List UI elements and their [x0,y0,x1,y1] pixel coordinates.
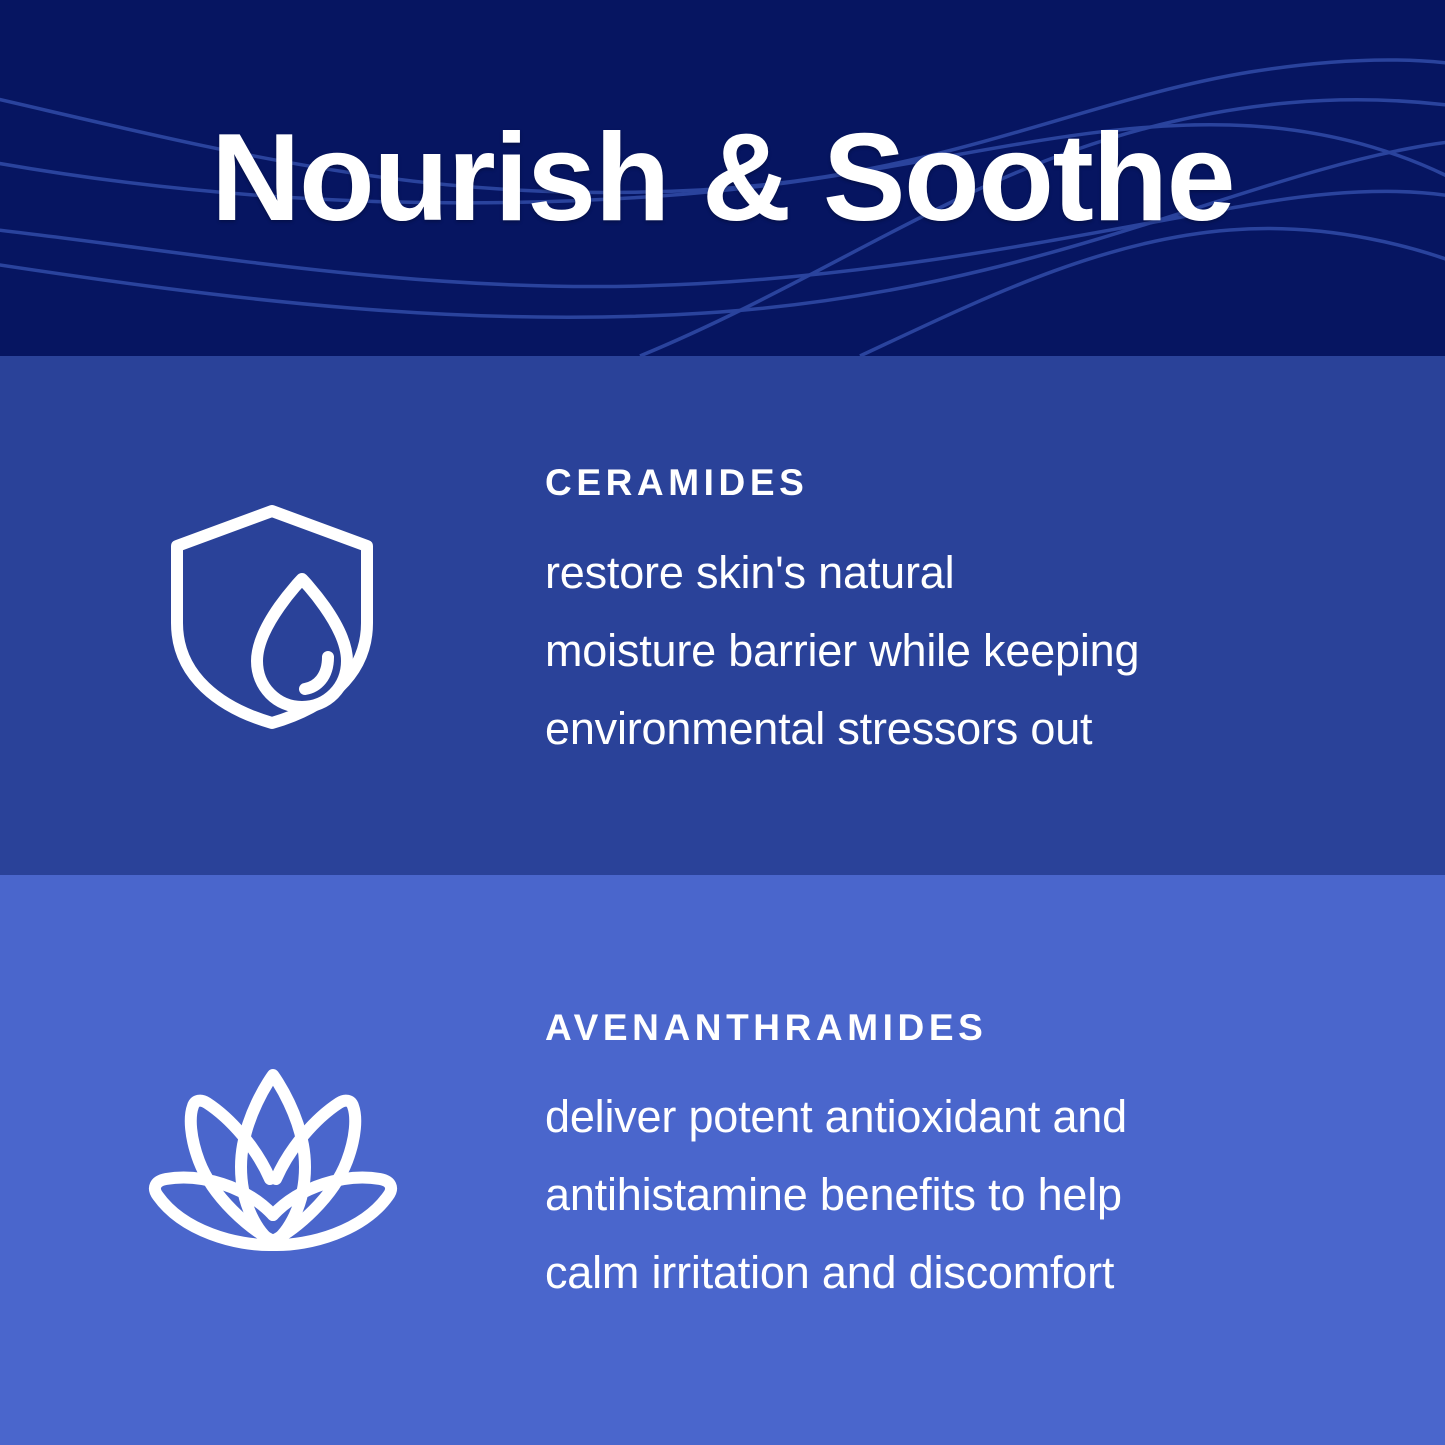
description-line: restore skin's natural [545,534,1295,612]
description-line: environmental stressors out [545,690,1295,768]
feature-icon-container-ceramides [0,501,545,731]
page-title: Nourish & Soothe [0,0,1445,356]
lotus-flower-icon [138,1063,408,1258]
feature-title-ceramides: CERAMIDES [545,463,1295,504]
feature-text-container-avenanthramides: AVENANTHRAMIDES deliver potent antioxida… [545,1008,1445,1313]
feature-section-ceramides: CERAMIDES restore skin's natural moistur… [0,356,1445,875]
description-line: antihistamine benefits to help [545,1156,1295,1234]
shield-droplet-icon [165,501,380,731]
feature-section-avenanthramides: AVENANTHRAMIDES deliver potent antioxida… [0,875,1445,1445]
feature-description-avenanthramides: deliver potent antioxidant and antihista… [545,1078,1295,1312]
feature-title-avenanthramides: AVENANTHRAMIDES [545,1008,1295,1049]
description-line: calm irritation and discomfort [545,1234,1295,1312]
feature-text-container-ceramides: CERAMIDES restore skin's natural moistur… [545,463,1445,768]
product-benefits-infographic: Nourish & Soothe CERAMIDES restore skin'… [0,0,1445,1445]
feature-description-ceramides: restore skin's natural moisture barrier … [545,534,1295,768]
description-line: moisture barrier while keeping [545,612,1295,690]
header-banner: Nourish & Soothe [0,0,1445,356]
description-line: deliver potent antioxidant and [545,1078,1295,1156]
feature-icon-container-avenanthramides [0,1063,545,1258]
